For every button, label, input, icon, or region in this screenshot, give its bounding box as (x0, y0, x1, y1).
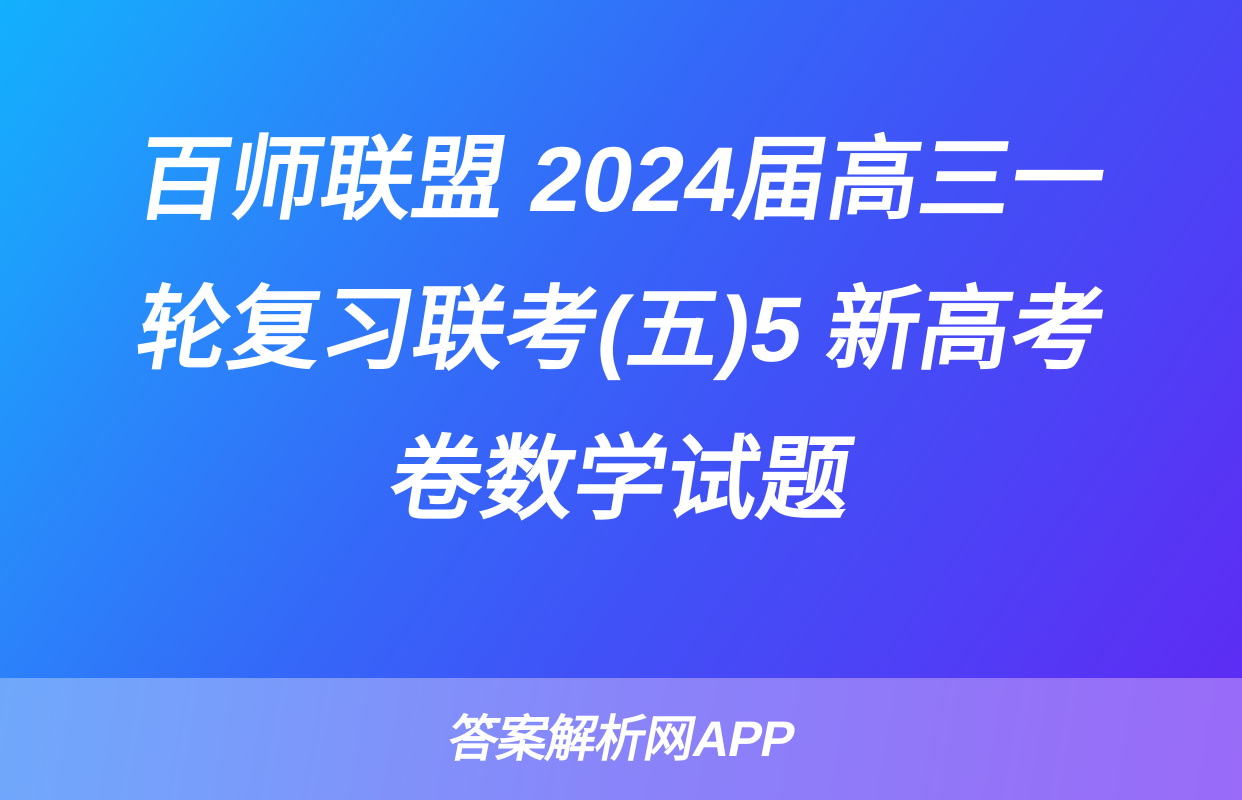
title-line-2: 轮复习联考(五)5 新高考 (126, 255, 1116, 405)
title-line-3: 卷数学试题 (379, 405, 863, 555)
footer-watermark-band: 答案解析网APP (0, 678, 1242, 800)
title-line-1: 百师联盟 2024届高三一 (126, 105, 1116, 255)
app-watermark-label: 答案解析网APP (444, 714, 799, 764)
exam-title-banner: 百师联盟 2024届高三一 轮复习联考(五)5 新高考 卷数学试题 答案解析网A… (0, 0, 1242, 800)
title-block: 百师联盟 2024届高三一 轮复习联考(五)5 新高考 卷数学试题 (0, 0, 1242, 678)
